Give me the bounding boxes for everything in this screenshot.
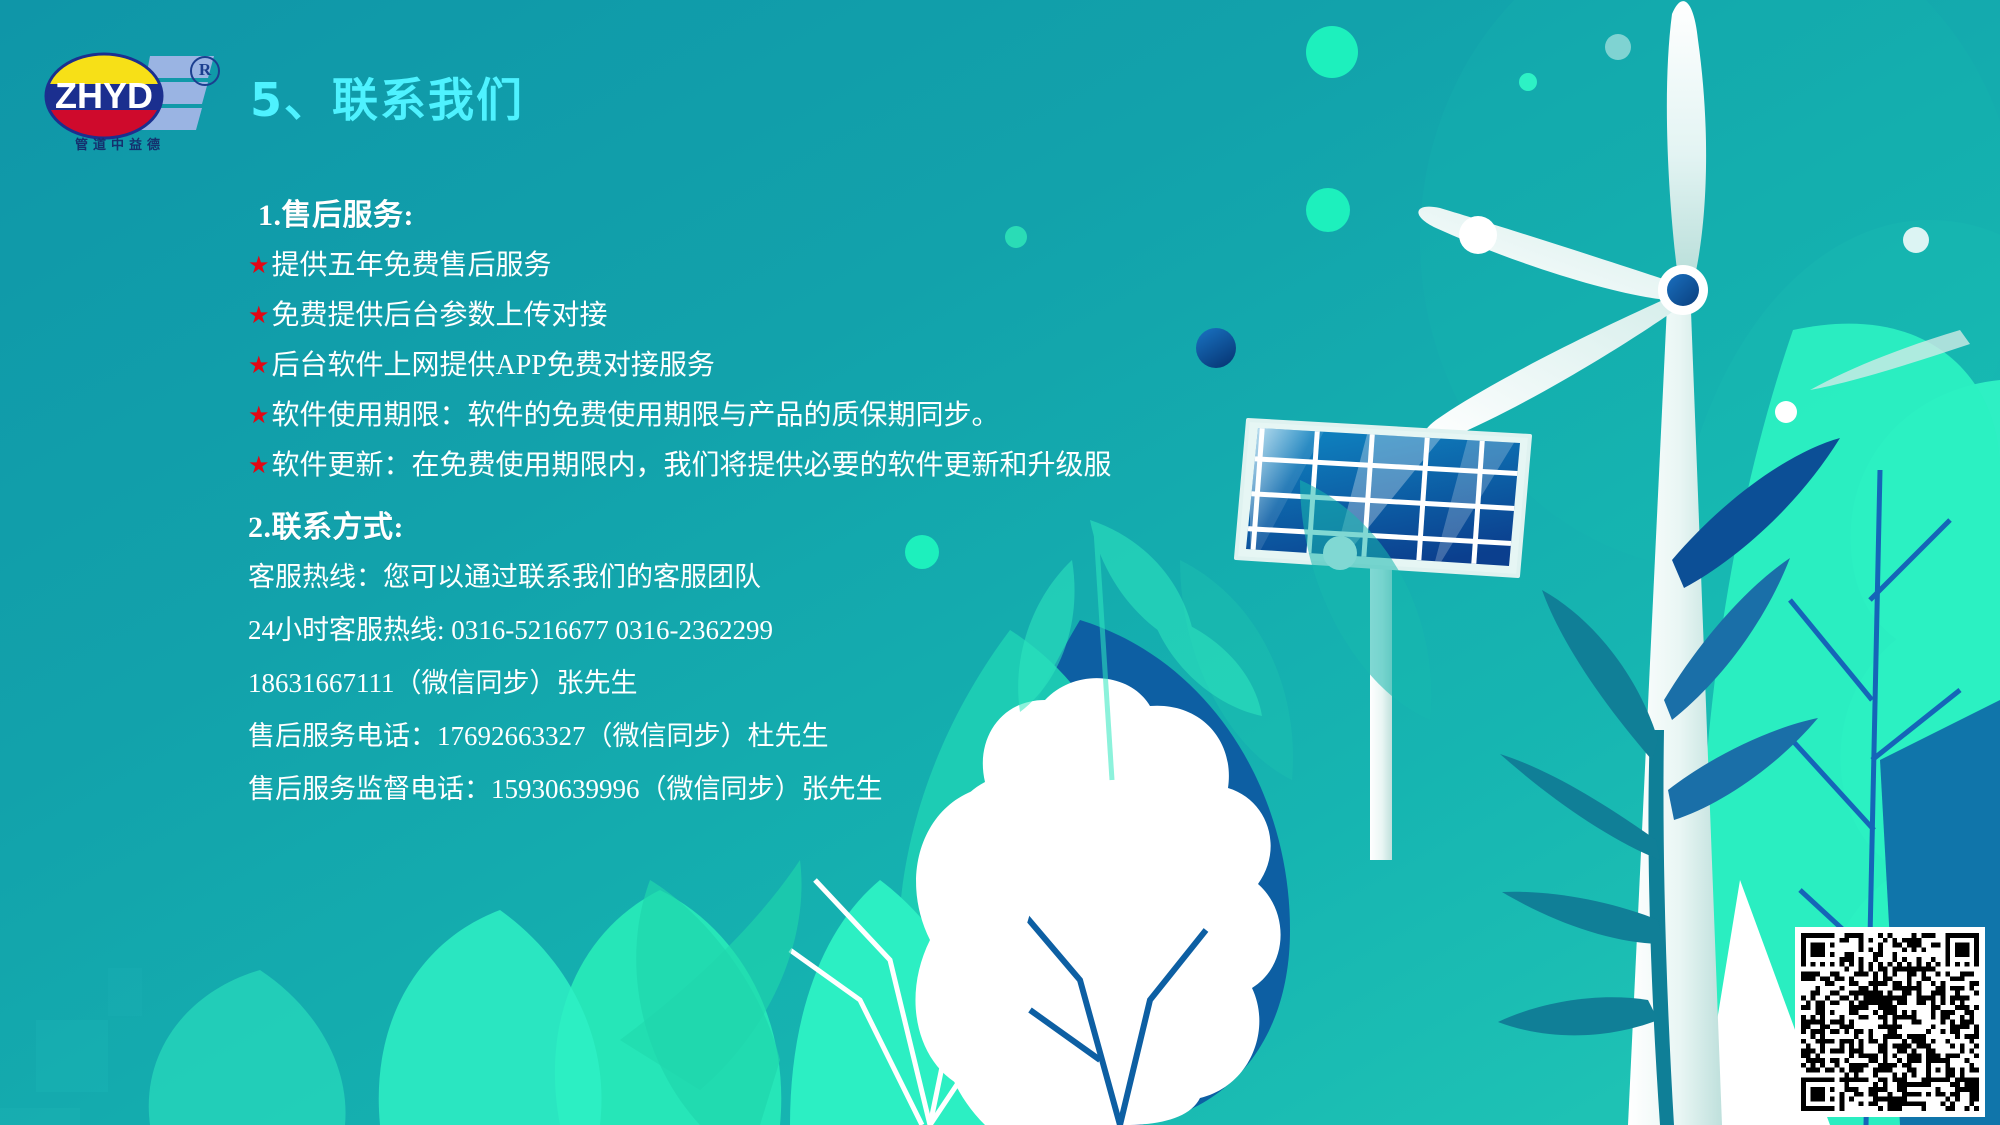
star-icon: ★ — [248, 348, 270, 384]
solar-panel-icon — [1230, 415, 1540, 860]
foliage-bamboo — [1498, 438, 1840, 1125]
slide-header: ZHYD R 管道中益德 5、联系我们 — [0, 0, 2000, 170]
list-item: ★ 软件更新：在免费使用期限内，我们将提供必要的软件更新和升级服 — [248, 448, 1248, 484]
list-item-label: 免费提供后台参数上传对接 — [272, 298, 608, 334]
contact-list: 客服热线：您可以通过联系我们的客服团队 24小时客服热线: 0316-52166… — [248, 560, 1248, 806]
list-item: ★ 提供五年免费售后服务 — [248, 248, 1248, 284]
section-heading-contact: 2.联系方式: — [248, 502, 1248, 546]
star-icon: ★ — [248, 298, 270, 334]
section-heading-after-sales: 1.售后服务: — [258, 190, 1248, 234]
left-square-decoration — [0, 968, 182, 1125]
contact-line: 售后服务电话：17692663327（微信同步）杜先生 — [248, 719, 1248, 753]
list-item-label: 提供五年免费售后服务 — [272, 248, 552, 284]
after-sales-list: ★ 提供五年免费售后服务 ★ 免费提供后台参数上传对接 ★ 后台软件上网提供AP… — [248, 248, 1248, 484]
list-item-label: 软件使用期限：软件的免费使用期限与产品的质保期同步。 — [272, 398, 1000, 434]
company-logo[interactable]: ZHYD R 管道中益德 — [42, 48, 232, 158]
list-item: ★ 软件使用期限：软件的免费使用期限与产品的质保期同步。 — [248, 398, 1248, 434]
list-item: ★ 后台软件上网提供APP免费对接服务 — [248, 348, 1248, 384]
star-icon: ★ — [248, 448, 270, 484]
qr-code[interactable] — [1795, 927, 1985, 1117]
list-item-label: 后台软件上网提供APP免费对接服务 — [272, 348, 715, 384]
qr-code-image — [1801, 933, 1979, 1111]
slide-content: 1.售后服务: ★ 提供五年免费售后服务 ★ 免费提供后台参数上传对接 ★ 后台… — [248, 190, 1248, 825]
list-item-label: 软件更新：在免费使用期限内，我们将提供必要的软件更新和升级服 — [272, 448, 1112, 484]
page-title: 5、联系我们 — [250, 64, 524, 130]
blade-sliver-decoration — [1810, 330, 1970, 390]
logo-subtitle: 管道中益德 — [50, 134, 190, 153]
white-blob-decoration — [915, 790, 1033, 1090]
slide-canvas: ZHYD R 管道中益德 5、联系我们 1.售后服务: ★ 提供五年免费售后服务… — [0, 0, 2000, 1125]
foliage-left — [149, 860, 802, 1125]
star-icon: ★ — [248, 398, 270, 434]
list-item: ★ 免费提供后台参数上传对接 — [248, 298, 1248, 334]
logo-brand-text: ZHYD — [55, 75, 153, 116]
registered-trademark-icon: R — [190, 56, 220, 86]
contact-line: 售后服务监督电话：15930639996（微信同步）张先生 — [248, 772, 1248, 806]
contact-line: 客服热线：您可以通过联系我们的客服团队 — [248, 560, 1248, 594]
star-icon: ★ — [248, 248, 270, 284]
contact-line: 18631667111（微信同步）张先生 — [248, 666, 1248, 700]
contact-line: 24小时客服热线: 0316-5216677 0316-2362299 — [248, 613, 1248, 647]
